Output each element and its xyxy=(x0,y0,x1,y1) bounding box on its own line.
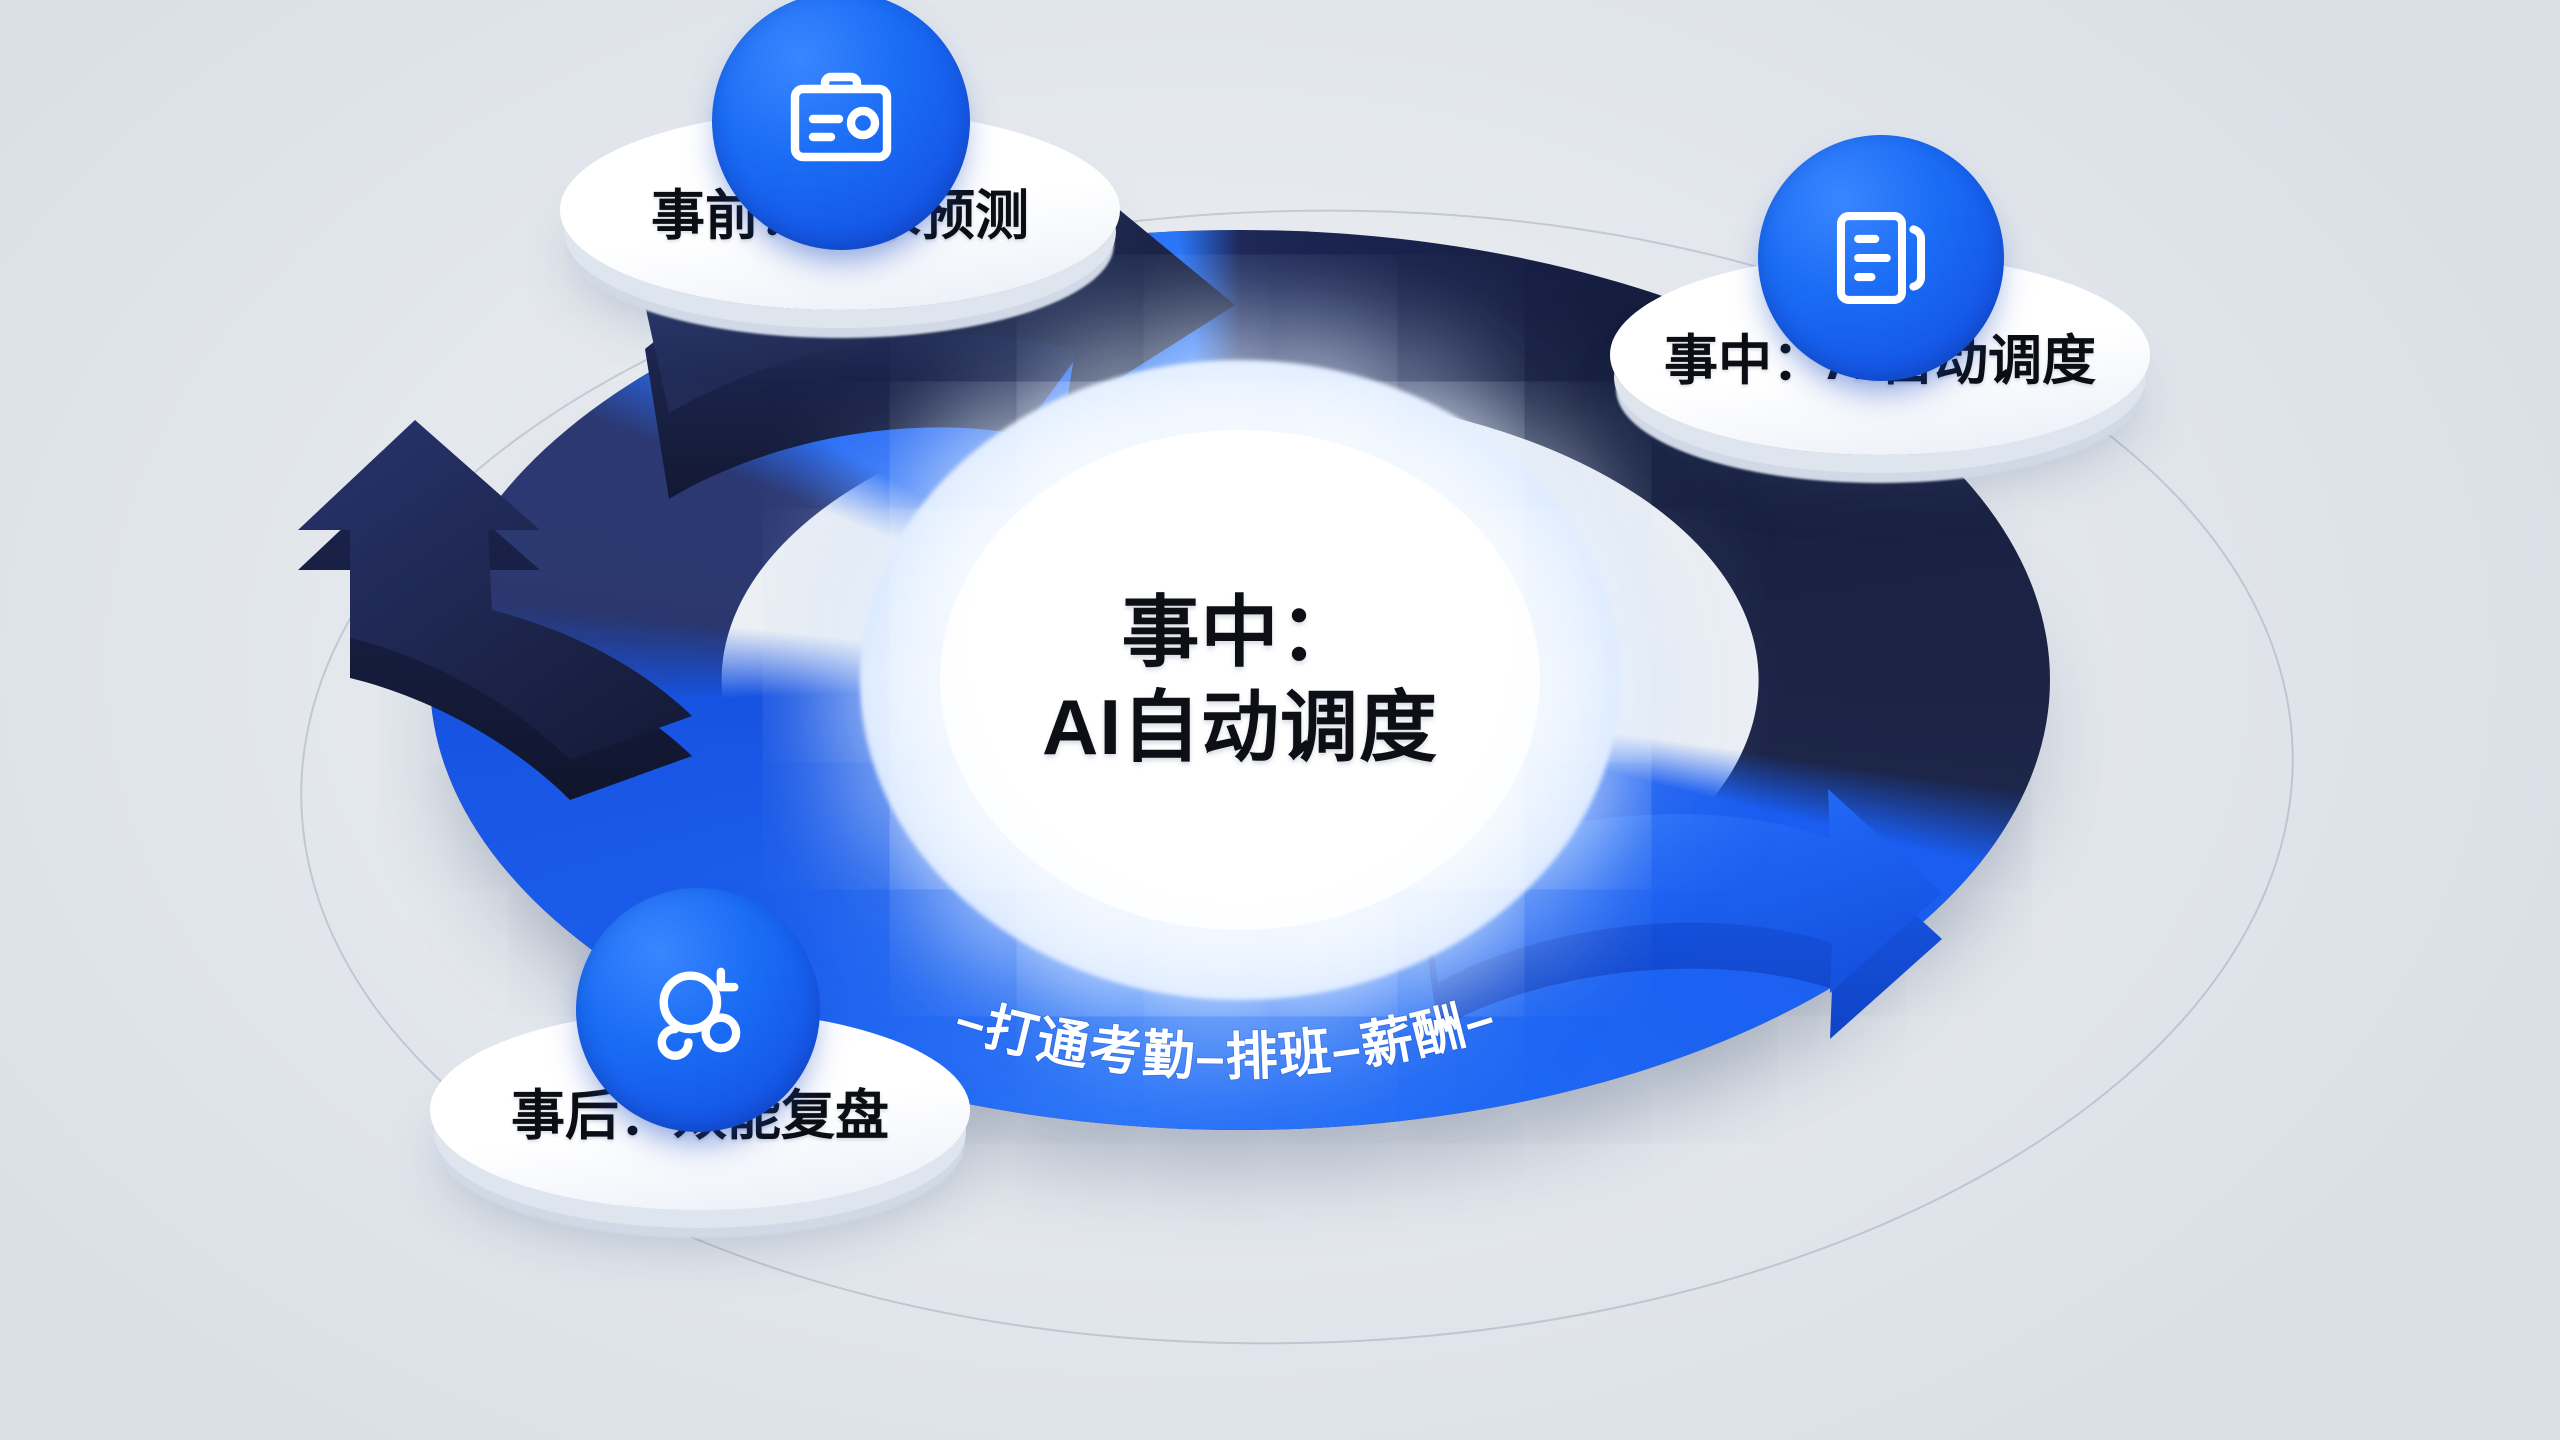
infographic-canvas: 事中： AI自动调度 –打通考勤–排班–薪酬– 事前：需求 xyxy=(0,0,2560,1440)
node-post-stage[interactable]: 事后：效能复盘 xyxy=(430,1010,970,1210)
arrow-head-left xyxy=(240,360,760,780)
center-line-1: 事中： xyxy=(1121,588,1358,676)
briefcase-id-card-icon[interactable] xyxy=(712,0,970,250)
center-hub-disc: 事中： AI自动调度 xyxy=(940,430,1540,930)
analytics-circles-icon[interactable] xyxy=(576,888,820,1132)
center-hub-text: 事中： AI自动调度 xyxy=(1042,585,1438,775)
document-lines-icon[interactable] xyxy=(1758,135,2004,381)
node-pre-stage[interactable]: 事前：需求预测 xyxy=(560,110,1120,310)
node-during-stage[interactable]: 事中：AI自动调度 xyxy=(1610,255,2150,455)
center-line-2: AI自动调度 xyxy=(1042,680,1438,775)
